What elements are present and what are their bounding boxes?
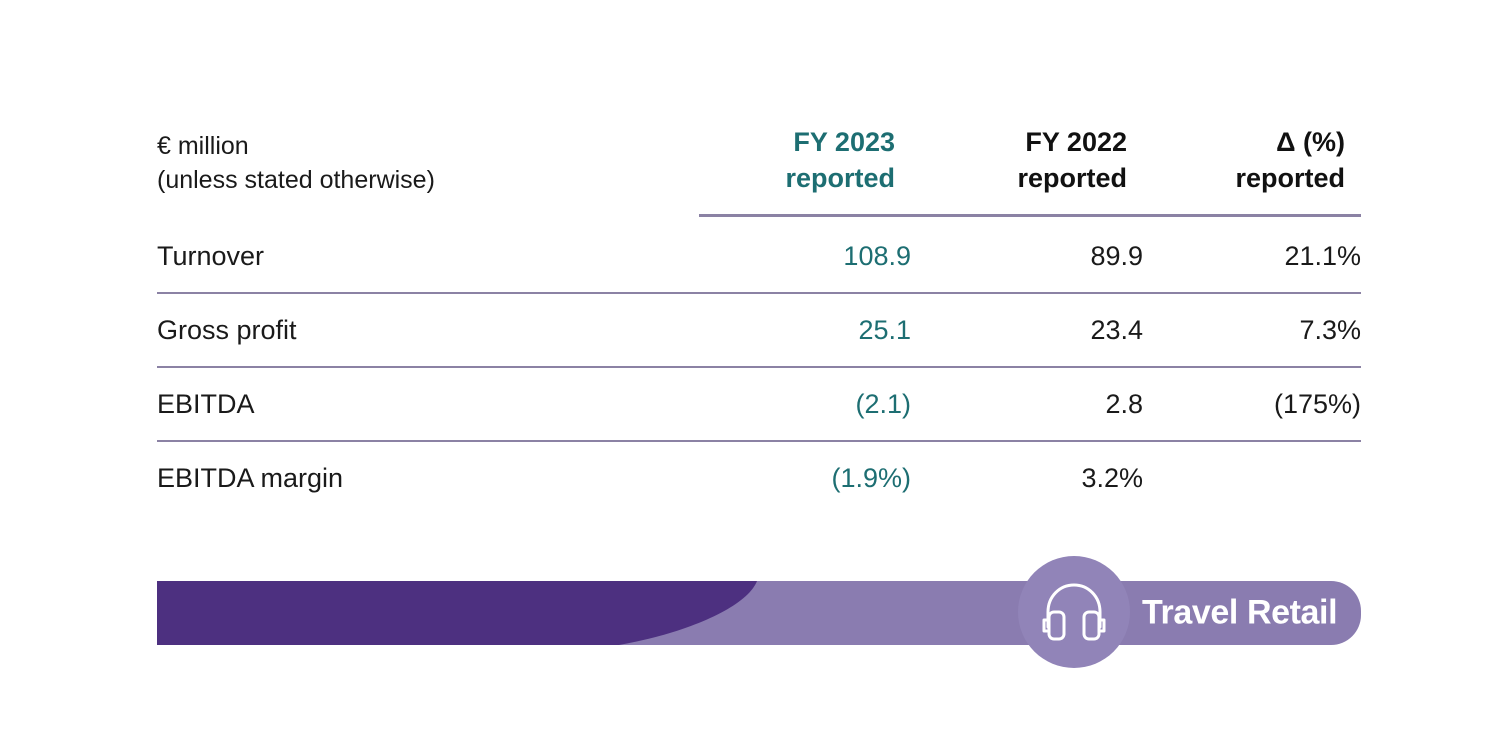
table-row: EBITDA margin (1.9%) 3.2% [157, 441, 1361, 514]
cell-delta: 21.1% [1143, 220, 1361, 293]
segment-logo-badge [1018, 556, 1130, 668]
row-label: Gross profit [157, 293, 699, 367]
table-header: € million (unless stated otherwise) FY 2… [157, 125, 1361, 220]
table-row: Gross profit 25.1 23.4 7.3% [157, 293, 1361, 367]
financial-summary-page: € million (unless stated otherwise) FY 2… [0, 0, 1500, 750]
segment-banner: Travel Retail [157, 581, 1361, 645]
cell-delta: 7.3% [1143, 293, 1361, 367]
cell-fy2022: 3.2% [911, 441, 1143, 514]
segment-label: Travel Retail [1142, 594, 1337, 633]
table-row: Turnover 108.9 89.9 21.1% [157, 220, 1361, 293]
unit-label: € million (unless stated otherwise) [157, 125, 699, 216]
financial-summary-table: € million (unless stated otherwise) FY 2… [157, 125, 1361, 514]
row-label: EBITDA margin [157, 441, 699, 514]
cell-fy2023: 25.1 [699, 293, 911, 367]
cell-fy2022: 23.4 [911, 293, 1143, 367]
cell-fy2023: (2.1) [699, 367, 911, 441]
cell-fy2022: 89.9 [911, 220, 1143, 293]
cell-delta: (175%) [1143, 367, 1361, 441]
column-header-fy2022: FY 2022 reported [911, 125, 1143, 216]
row-label: Turnover [157, 220, 699, 293]
table-row: EBITDA (2.1) 2.8 (175%) [157, 367, 1361, 441]
table-body: Turnover 108.9 89.9 21.1% Gross profit 2… [157, 220, 1361, 514]
headphones-icon [1040, 581, 1108, 643]
row-label: EBITDA [157, 367, 699, 441]
cell-fy2023: 108.9 [699, 220, 911, 293]
cell-fy2022: 2.8 [911, 367, 1143, 441]
column-header-fy2023: FY 2023 reported [699, 125, 911, 216]
column-header-delta: Δ (%) reported [1143, 125, 1361, 216]
cell-fy2023: (1.9%) [699, 441, 911, 514]
cell-delta [1143, 441, 1361, 514]
